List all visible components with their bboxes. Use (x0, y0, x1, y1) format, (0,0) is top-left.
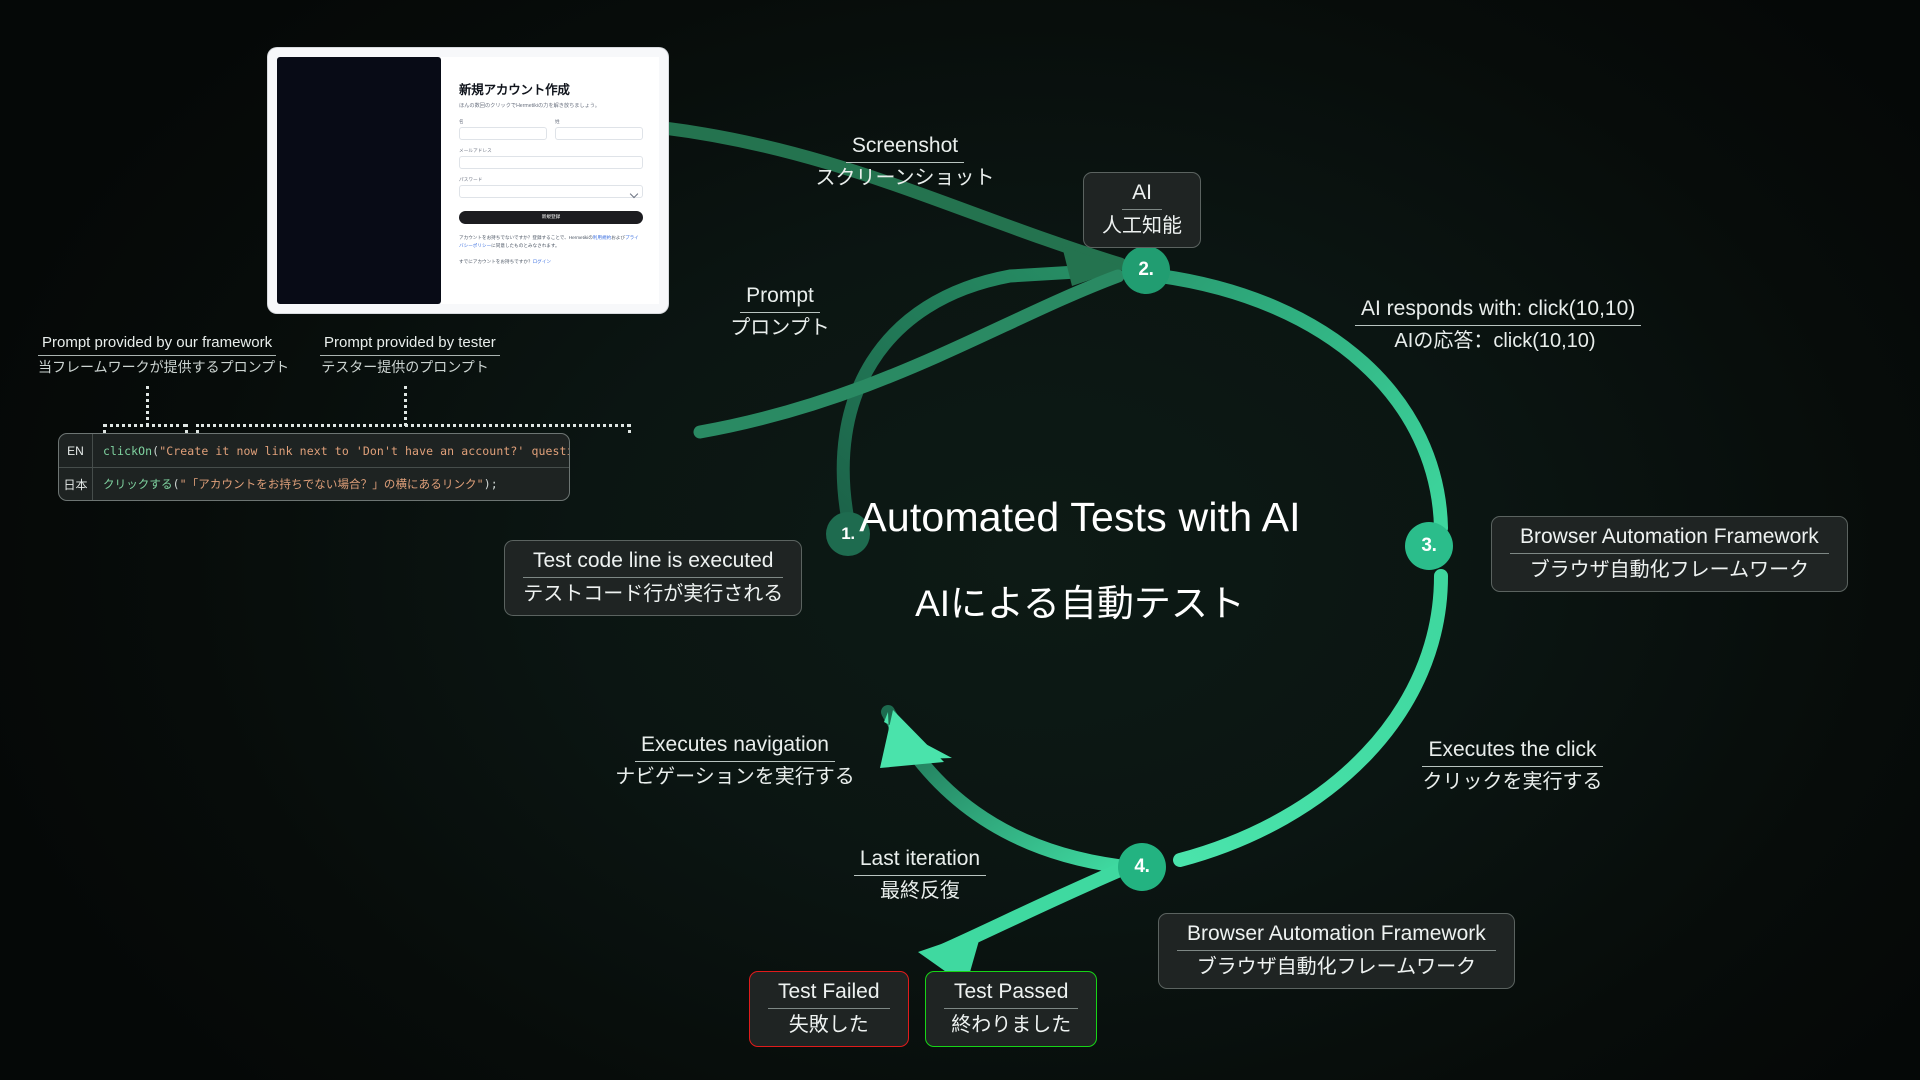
dotted-bracket-tester-right-tick (628, 424, 631, 433)
label-prompt: Prompt プロンプト (700, 284, 860, 339)
screenshot-card-firstname-field: 名 (459, 119, 547, 140)
label-executes-click-en: Executes the click (1422, 738, 1602, 767)
label-prompt-ja: プロンプト (700, 313, 860, 339)
annotation-framework-prompt: Prompt provided by our framework 当フレームワー… (38, 334, 254, 375)
dotted-bracket-framework-left-tick (103, 424, 106, 433)
diagram-title-ja: AIによる自動テスト (770, 584, 1390, 625)
label-executes-click-ja: クリックを実行する (1405, 767, 1620, 793)
diagram-canvas: 1. 2. 3. 4. Automated Tests with AI AIによ… (0, 0, 1920, 1080)
code-open-ja: ( (173, 477, 180, 491)
dotted-bracket-tester-left-tick (196, 424, 199, 433)
dotted-dropper-tester (404, 386, 407, 426)
label-executes-navigation-ja: ナビゲーションを実行する (610, 762, 860, 788)
label-screenshot: Screenshot スクリーンショット (790, 134, 1020, 189)
chip-test-code-executed-en: Test code line is executed (523, 549, 783, 578)
screenshot-card-login-link[interactable]: ログイン (533, 259, 551, 264)
label-screenshot-en: Screenshot (846, 134, 964, 163)
screenshot-card-email-field: メールアドレス (459, 148, 643, 169)
code-block[interactable]: EN clickOn("Create it now link next to '… (58, 433, 570, 501)
chip-framework-right-en: Browser Automation Framework (1510, 525, 1829, 554)
screenshot-card-name-row: 名 姓 (459, 119, 643, 140)
node-1-label: 1. (841, 524, 855, 544)
label-last-iteration-en: Last iteration (854, 847, 986, 876)
screenshot-card: 新規アカウント作成 ほんの数回のクリックでHermetikiの力を解き放ちましょ… (268, 48, 668, 313)
screenshot-card-hero (277, 57, 441, 304)
screenshot-card-firstname-label: 名 (459, 119, 547, 125)
dotted-bracket-framework-right-tick (185, 424, 188, 433)
screenshot-card-terms-link[interactable]: 利用規約 (593, 235, 611, 240)
chip-test-failed-en: Test Failed (768, 980, 890, 1009)
diagram-title: Automated Tests with AI AIによる自動テスト (770, 495, 1390, 625)
annotation-tester-prompt-ja: テスター提供のプロンプト (320, 356, 490, 375)
node-4[interactable]: 4. (1118, 843, 1166, 891)
annotation-framework-prompt-en: Prompt provided by our framework (38, 335, 276, 356)
code-text-en: clickOn("Create it now link next to 'Don… (93, 437, 570, 465)
screenshot-card-form: 新規アカウント作成 ほんの数回のクリックでHermetikiの力を解き放ちましょ… (441, 57, 659, 304)
screenshot-card-email-input[interactable] (459, 156, 643, 169)
screenshot-card-password-input[interactable] (459, 185, 643, 198)
screenshot-card-legal-post: に同意したものとみなされます。 (491, 243, 559, 248)
node-3-label: 3. (1421, 535, 1436, 557)
dotted-bracket-framework (103, 424, 187, 427)
screenshot-card-lastname-field: 姓 (555, 119, 643, 140)
code-text-ja: クリックする("「アカウントをお持ちでない場合？」の横にあるリンク"); (93, 469, 508, 499)
screenshot-card-legal-text: アカウントをお持ちでないですか？登録することで、Hermetikiの利用規約およ… (459, 234, 643, 250)
node-2[interactable]: 2. (1122, 246, 1170, 294)
annotation-tester-prompt-en: Prompt provided by tester (320, 335, 500, 356)
node-3[interactable]: 3. (1405, 522, 1453, 570)
node-1[interactable]: 1. (826, 512, 870, 556)
screenshot-card-lastname-label: 姓 (555, 119, 643, 125)
chip-ai-en: AI (1122, 181, 1162, 210)
code-string-en: "Create it now link next to 'Don't have … (159, 444, 570, 458)
chip-framework-right-ja: ブラウザ自動化フレームワーク (1510, 554, 1829, 581)
code-close-ja: ); (484, 477, 498, 491)
label-executes-navigation-en: Executes navigation (635, 733, 835, 762)
label-ai-response-en: AI responds with: click(10,10) (1355, 297, 1641, 326)
chip-ai-ja: 人工知能 (1102, 210, 1182, 237)
label-last-iteration: Last iteration 最終反復 (835, 847, 1005, 902)
annotation-framework-prompt-ja: 当フレームワークが提供するプロンプト (38, 356, 254, 375)
screenshot-card-login-text: すでにアカウントをお持ちですか？ログイン (459, 259, 643, 265)
chip-test-code-executed[interactable]: Test code line is executed テストコード行が実行される (504, 540, 802, 616)
screenshot-card-firstname-input[interactable] (459, 127, 547, 140)
screenshot-card-legal-mid: および (611, 235, 625, 240)
dotted-bracket-tester (196, 424, 630, 427)
chip-framework-bottom-ja: ブラウザ自動化フレームワーク (1177, 951, 1496, 978)
label-executes-navigation: Executes navigation ナビゲーションを実行する (610, 733, 860, 788)
chip-ai[interactable]: AI 人工知能 (1083, 172, 1201, 248)
label-ai-response-ja: AIの応答：click(10,10) (1355, 326, 1635, 352)
chip-framework-bottom[interactable]: Browser Automation Framework ブラウザ自動化フレーム… (1158, 913, 1515, 989)
chip-test-failed[interactable]: Test Failed 失敗した (749, 971, 909, 1047)
code-fn-en: clickOn (103, 444, 152, 458)
chip-test-code-executed-ja: テストコード行が実行される (523, 578, 783, 605)
chip-framework-bottom-en: Browser Automation Framework (1177, 922, 1496, 951)
chip-framework-right[interactable]: Browser Automation Framework ブラウザ自動化フレーム… (1491, 516, 1848, 592)
screenshot-card-password-field: パスワード (459, 177, 643, 198)
code-fn-ja: クリックする (103, 477, 173, 491)
chip-test-passed[interactable]: Test Passed 終わりました (925, 971, 1097, 1047)
label-ai-response: AI responds with: click(10,10) AIの応答：cli… (1355, 297, 1635, 352)
node-4-label: 4. (1134, 856, 1149, 878)
screenshot-card-lastname-input[interactable] (555, 127, 643, 140)
label-screenshot-ja: スクリーンショット (790, 163, 1020, 189)
node-2-label: 2. (1138, 259, 1153, 281)
label-executes-click: Executes the click クリックを実行する (1405, 738, 1620, 793)
dotted-dropper-framework (146, 386, 149, 426)
annotation-tester-prompt: Prompt provided by tester テスター提供のプロンプト (320, 334, 490, 375)
label-prompt-en: Prompt (740, 284, 820, 313)
screenshot-card-legal-pre: アカウントをお持ちでないですか？登録することで、Hermetikiの (459, 235, 593, 240)
screenshot-card-login-pre: すでにアカウントをお持ちですか？ (459, 259, 533, 264)
screenshot-card-subtitle: ほんの数回のクリックでHermetikiの力を解き放ちましょう。 (459, 103, 643, 110)
screenshot-card-submit-button[interactable]: 新規登録 (459, 211, 643, 224)
code-lang-en: EN (59, 434, 93, 467)
chip-test-passed-ja: 終わりました (944, 1009, 1078, 1036)
chip-test-passed-en: Test Passed (944, 980, 1078, 1009)
screenshot-card-title: 新規アカウント作成 (459, 79, 643, 98)
label-last-iteration-ja: 最終反復 (835, 876, 1005, 902)
screenshot-card-password-label: パスワード (459, 177, 643, 183)
code-row-ja[interactable]: 日本 クリックする("「アカウントをお持ちでない場合？」の横にあるリンク"); (59, 467, 569, 500)
chip-test-failed-ja: 失敗した (768, 1009, 890, 1036)
code-string-ja: "「アカウントをお持ちでない場合？」の横にあるリンク" (180, 477, 484, 491)
code-row-en[interactable]: EN clickOn("Create it now link next to '… (59, 434, 569, 467)
code-lang-ja: 日本 (59, 468, 93, 500)
screenshot-card-email-label: メールアドレス (459, 148, 643, 154)
